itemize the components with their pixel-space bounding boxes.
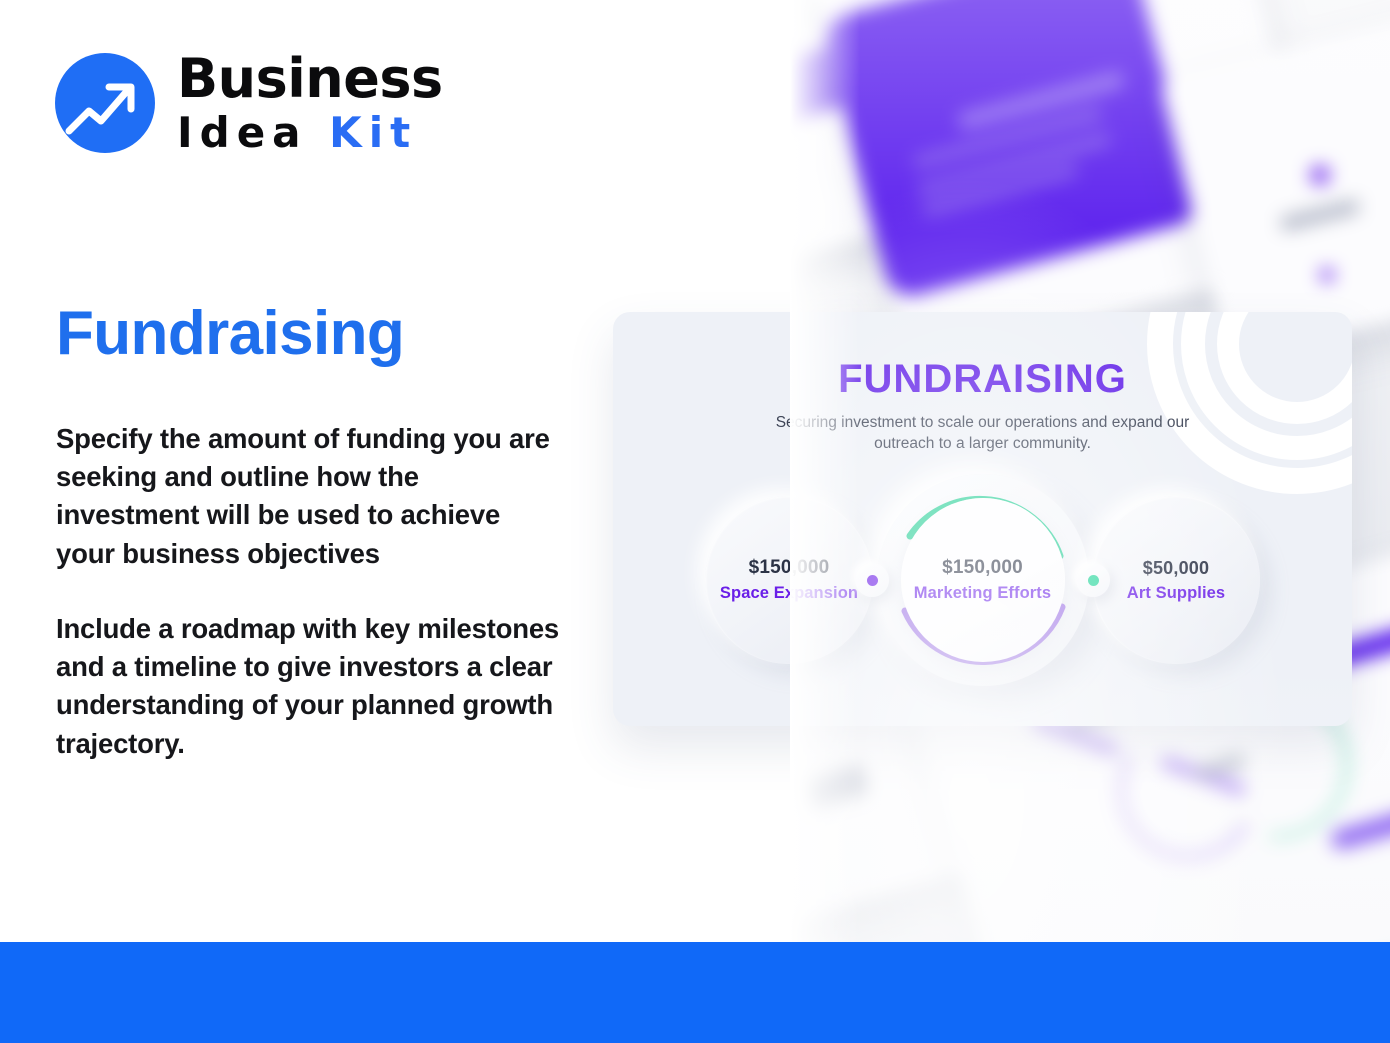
brand-name-kit: Kit [329, 108, 417, 157]
description-paragraph-2: Include a roadmap with key milestones an… [56, 610, 566, 763]
growth-arrow-icon [55, 53, 155, 153]
page-title: Fundraising [56, 298, 404, 369]
bg-text-bar [802, 764, 870, 810]
brand-name-idea: Idea [177, 108, 308, 157]
background-photo [790, 0, 1390, 942]
footer-bar [0, 942, 1390, 1043]
brand-name-line2: Idea Kit [177, 112, 443, 154]
brand-name-primary: Business [177, 47, 443, 110]
brand-name-line1: Business [177, 52, 443, 106]
brand-logo: Business Idea Kit [55, 52, 443, 154]
background-vignette [790, 0, 1390, 942]
description-paragraph-1: Specify the amount of funding you are se… [56, 420, 566, 573]
slide-page: Business Idea Kit Fundraising Specify th… [0, 0, 1390, 1043]
